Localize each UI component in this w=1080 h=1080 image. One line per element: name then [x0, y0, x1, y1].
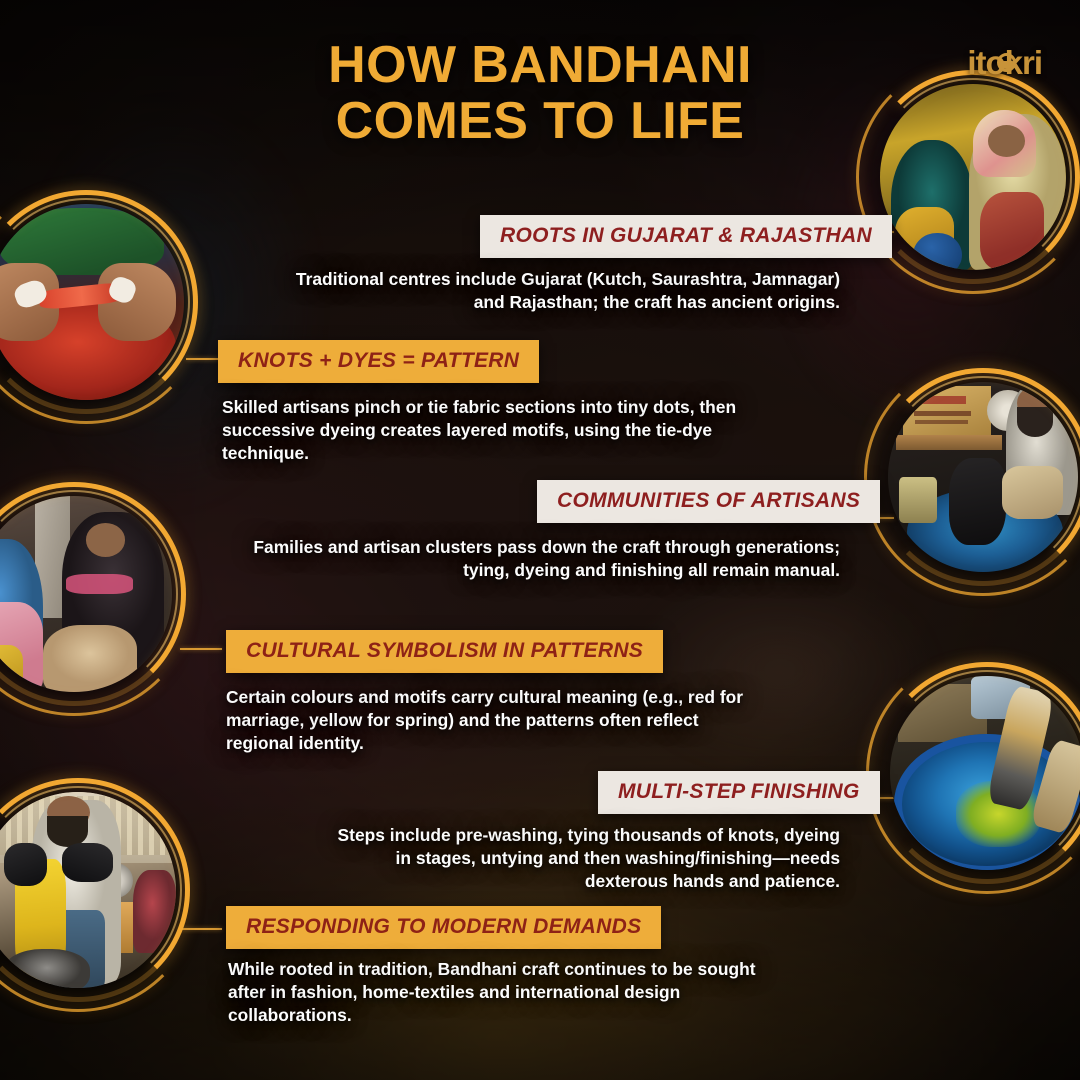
title-line-1: HOW BANDHANI: [328, 36, 752, 94]
section-heading-knots-dyes: KNOTS + DYES = PATTERN: [218, 340, 539, 383]
section-body-modern-demands: While rooted in tradition, Bandhani craf…: [228, 958, 780, 1027]
photo-ring-inner: [882, 376, 1080, 578]
section-heading-communities: COMMUNITIES OF ARTISANS: [537, 480, 880, 523]
photo-ring-inner: [884, 670, 1080, 876]
section-heading-roots: ROOTS IN GUJARAT & RAJASTHAN: [480, 215, 892, 258]
infographic-poster: HOW BANDHANI COMES TO LIFE itokri: [0, 0, 1080, 1080]
brand-logo[interactable]: itokri: [967, 44, 1042, 82]
photo-yellow-cloth-lift: [0, 792, 176, 988]
title-line-2: COMES TO LIFE: [0, 94, 1080, 150]
section-body-finishing: Steps include pre-washing, tying thousan…: [320, 824, 840, 893]
connector-line-symbolism: [180, 648, 222, 650]
section-body-communities: Families and artisan clusters pass down …: [240, 536, 840, 582]
page-title: HOW BANDHANI COMES TO LIFE: [0, 38, 1080, 149]
section-heading-symbolism: CULTURAL SYMBOLISM IN PATTERNS: [226, 630, 663, 673]
section-body-roots: Traditional centres include Gujarat (Kut…: [270, 268, 840, 314]
photo-dyeing-blue-tub: [888, 382, 1078, 572]
section-heading-modern-demands: RESPONDING TO MODERN DEMANDS: [226, 906, 661, 949]
section-body-symbolism: Certain colours and motifs carry cultura…: [226, 686, 766, 755]
photo-hands-red-fabric: [0, 204, 184, 400]
section-body-knots-dyes: Skilled artisans pinch or tie fabric sec…: [222, 396, 742, 465]
photo-women-knotting: [0, 496, 172, 692]
section-heading-finishing: MULTI-STEP FINISHING: [598, 771, 880, 814]
photo-indigo-vat: [890, 676, 1080, 870]
brand-logo-text: itokri: [967, 44, 1042, 82]
